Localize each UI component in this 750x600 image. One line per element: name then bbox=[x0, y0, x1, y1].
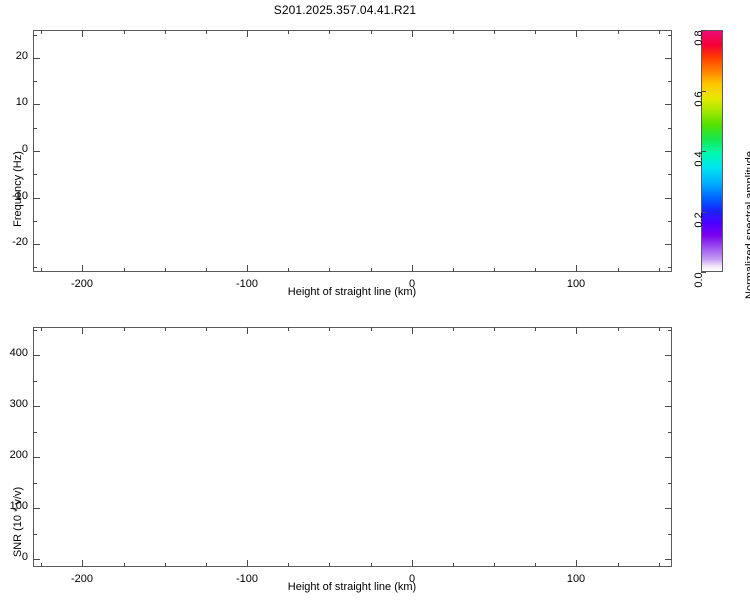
axis-tick bbox=[82, 30, 83, 37]
snr-yaxis-label: SNR (10 * v/v) bbox=[12, 487, 24, 557]
axis-tick bbox=[665, 406, 672, 407]
axis-tick bbox=[668, 174, 672, 175]
axis-tick bbox=[668, 221, 672, 222]
figure-title: S201.2025.357.04.41.R21 bbox=[0, 3, 690, 17]
axis-tick-label: 100 bbox=[567, 573, 585, 585]
axis-tick-label: -200 bbox=[71, 278, 93, 290]
axis-tick bbox=[82, 560, 83, 567]
axis-tick bbox=[668, 81, 672, 82]
axis-tick bbox=[247, 560, 248, 567]
axis-tick bbox=[33, 355, 40, 356]
axis-tick bbox=[41, 563, 42, 567]
axis-tick bbox=[33, 81, 37, 82]
axis-tick bbox=[329, 30, 330, 34]
axis-tick bbox=[33, 267, 37, 268]
axis-tick-label: -100 bbox=[236, 573, 258, 585]
axis-tick bbox=[412, 560, 413, 567]
snr-xaxis-label: Height of straight line (km) bbox=[288, 581, 416, 593]
axis-tick-label: 200 bbox=[10, 449, 28, 461]
axis-tick bbox=[412, 30, 413, 37]
axis-tick-label: 20 bbox=[16, 50, 28, 62]
axis-tick bbox=[247, 327, 248, 334]
axis-tick bbox=[659, 327, 660, 331]
axis-tick bbox=[659, 563, 660, 567]
axis-tick bbox=[41, 30, 42, 34]
axis-tick bbox=[165, 327, 166, 331]
axis-tick bbox=[165, 563, 166, 567]
axis-tick bbox=[494, 268, 495, 272]
axis-tick bbox=[665, 104, 672, 105]
axis-tick bbox=[33, 174, 37, 175]
figure-canvas: S201.2025.357.04.41.R21 -200-1000100-20-… bbox=[0, 0, 750, 600]
axis-tick bbox=[33, 559, 40, 560]
axis-tick bbox=[33, 104, 40, 105]
axis-tick bbox=[82, 265, 83, 272]
colorbar-tick-label: 0.4 bbox=[693, 151, 705, 166]
axis-tick bbox=[165, 30, 166, 34]
axis-tick bbox=[82, 327, 83, 334]
axis-tick-label: 400 bbox=[10, 347, 28, 359]
axis-tick bbox=[247, 265, 248, 272]
axis-tick bbox=[665, 508, 672, 509]
axis-tick bbox=[668, 534, 672, 535]
axis-tick bbox=[33, 483, 37, 484]
axis-tick bbox=[535, 563, 536, 567]
axis-tick bbox=[668, 128, 672, 129]
axis-tick bbox=[33, 58, 40, 59]
axis-tick bbox=[247, 30, 248, 37]
spectrogram-xaxis-label: Height of straight line (km) bbox=[288, 286, 416, 298]
axis-tick-label: -100 bbox=[236, 278, 258, 290]
axis-tick bbox=[453, 327, 454, 331]
axis-tick-label: 300 bbox=[10, 398, 28, 410]
axis-tick bbox=[206, 30, 207, 34]
axis-tick bbox=[668, 381, 672, 382]
axis-tick bbox=[576, 560, 577, 567]
axis-tick bbox=[665, 198, 672, 199]
axis-tick-label: 100 bbox=[567, 278, 585, 290]
axis-tick bbox=[206, 563, 207, 567]
axis-tick bbox=[371, 268, 372, 272]
axis-tick bbox=[33, 406, 40, 407]
axis-tick bbox=[33, 198, 40, 199]
axis-tick bbox=[41, 268, 42, 272]
axis-tick bbox=[618, 563, 619, 567]
axis-tick bbox=[33, 432, 37, 433]
spectrogram-yaxis-label: Frequency (Hz) bbox=[12, 151, 24, 227]
colorbar-tick-label: 0.6 bbox=[693, 91, 705, 106]
axis-tick-label: -200 bbox=[71, 573, 93, 585]
axis-tick bbox=[668, 330, 672, 331]
axis-tick bbox=[288, 268, 289, 272]
axis-tick bbox=[668, 267, 672, 268]
axis-tick bbox=[453, 563, 454, 567]
axis-tick bbox=[33, 35, 37, 36]
axis-tick bbox=[206, 327, 207, 331]
axis-tick bbox=[124, 563, 125, 567]
axis-tick bbox=[618, 30, 619, 34]
colorbar-tick-label: 0.8 bbox=[693, 30, 705, 45]
axis-tick-label: 10 bbox=[16, 96, 28, 108]
axis-tick bbox=[665, 151, 672, 152]
axis-tick bbox=[659, 268, 660, 272]
snr-axes-frame bbox=[33, 327, 672, 567]
axis-tick bbox=[412, 265, 413, 272]
colorbar-tick-label: 0.2 bbox=[693, 212, 705, 227]
spectrogram-axes-frame bbox=[33, 30, 672, 272]
axis-tick bbox=[668, 483, 672, 484]
axis-tick bbox=[665, 244, 672, 245]
axis-tick bbox=[33, 508, 40, 509]
axis-tick bbox=[618, 327, 619, 331]
axis-tick bbox=[576, 265, 577, 272]
axis-tick bbox=[124, 30, 125, 34]
axis-tick bbox=[453, 268, 454, 272]
axis-tick bbox=[371, 563, 372, 567]
axis-tick bbox=[33, 244, 40, 245]
axis-tick bbox=[288, 327, 289, 331]
axis-tick bbox=[329, 563, 330, 567]
axis-tick bbox=[33, 128, 37, 129]
axis-tick bbox=[668, 432, 672, 433]
axis-tick bbox=[33, 151, 40, 152]
axis-tick bbox=[329, 327, 330, 331]
axis-tick bbox=[33, 457, 40, 458]
axis-tick bbox=[618, 268, 619, 272]
axis-tick bbox=[33, 221, 37, 222]
axis-tick bbox=[33, 534, 37, 535]
axis-tick-label: -20 bbox=[12, 236, 28, 248]
colorbar-label: Normalized spectral amplitude bbox=[744, 151, 750, 299]
axis-tick bbox=[33, 330, 37, 331]
axis-tick bbox=[494, 563, 495, 567]
axis-tick bbox=[576, 327, 577, 334]
axis-tick bbox=[206, 268, 207, 272]
axis-tick bbox=[494, 327, 495, 331]
colorbar-tick-label: 0.0 bbox=[693, 272, 705, 287]
axis-tick bbox=[535, 30, 536, 34]
axis-tick bbox=[124, 268, 125, 272]
axis-tick bbox=[288, 30, 289, 34]
axis-tick bbox=[535, 268, 536, 272]
axis-tick bbox=[124, 327, 125, 331]
axis-tick bbox=[659, 30, 660, 34]
axis-tick bbox=[371, 327, 372, 331]
axis-tick bbox=[371, 30, 372, 34]
axis-tick bbox=[412, 327, 413, 334]
axis-tick bbox=[494, 30, 495, 34]
axis-tick bbox=[665, 58, 672, 59]
axis-tick bbox=[665, 559, 672, 560]
axis-tick bbox=[453, 30, 454, 34]
axis-tick bbox=[668, 35, 672, 36]
axis-tick bbox=[535, 327, 536, 331]
axis-tick bbox=[165, 268, 166, 272]
axis-tick bbox=[665, 355, 672, 356]
axis-tick bbox=[576, 30, 577, 37]
axis-tick bbox=[665, 457, 672, 458]
axis-tick bbox=[33, 381, 37, 382]
axis-tick bbox=[41, 327, 42, 331]
axis-tick bbox=[288, 563, 289, 567]
axis-tick bbox=[329, 268, 330, 272]
